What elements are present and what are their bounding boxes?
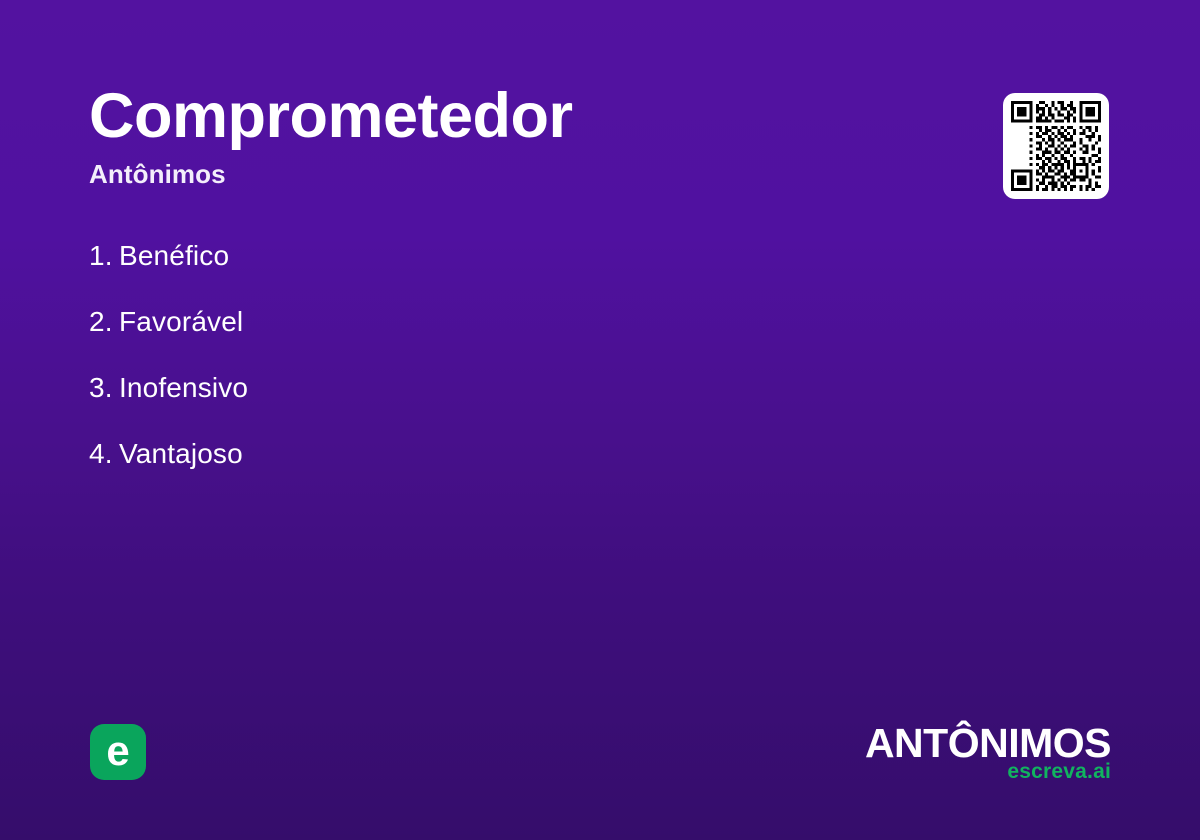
page-title: Comprometedor xyxy=(89,84,949,148)
list-item-index: 3. xyxy=(89,368,119,408)
page-subtitle: Antônimos xyxy=(89,160,949,189)
list-item: 1.Benéfico xyxy=(89,236,869,302)
list-item-index: 2. xyxy=(89,302,119,342)
escreva-logo-letter: e xyxy=(106,730,129,772)
antonyms-card: Comprometedor Antônimos 1.Benéfico 2.Fav… xyxy=(0,0,1200,840)
list-item-label: Vantajoso xyxy=(119,438,243,469)
qr-code-panel[interactable] xyxy=(1003,93,1109,199)
list-item-label: Favorável xyxy=(119,306,243,337)
list-item-index: 1. xyxy=(89,236,119,276)
brand-wordmark: ANTÔNIMOS escreva.ai xyxy=(865,722,1111,784)
list-item-index: 4. xyxy=(89,434,119,474)
escreva-logo-icon[interactable]: e xyxy=(90,724,146,780)
list-item-label: Benéfico xyxy=(119,240,229,271)
qr-code-icon xyxy=(1011,101,1101,191)
brand-wordmark-main: ANTÔNIMOS xyxy=(865,722,1111,764)
card-header: Comprometedor Antônimos xyxy=(89,84,949,189)
list-item: 4.Vantajoso xyxy=(89,434,869,500)
list-item: 2.Favorável xyxy=(89,302,869,368)
list-item: 3.Inofensivo xyxy=(89,368,869,434)
antonym-list: 1.Benéfico 2.Favorável 3.Inofensivo 4.Va… xyxy=(89,236,869,500)
list-item-label: Inofensivo xyxy=(119,372,248,403)
